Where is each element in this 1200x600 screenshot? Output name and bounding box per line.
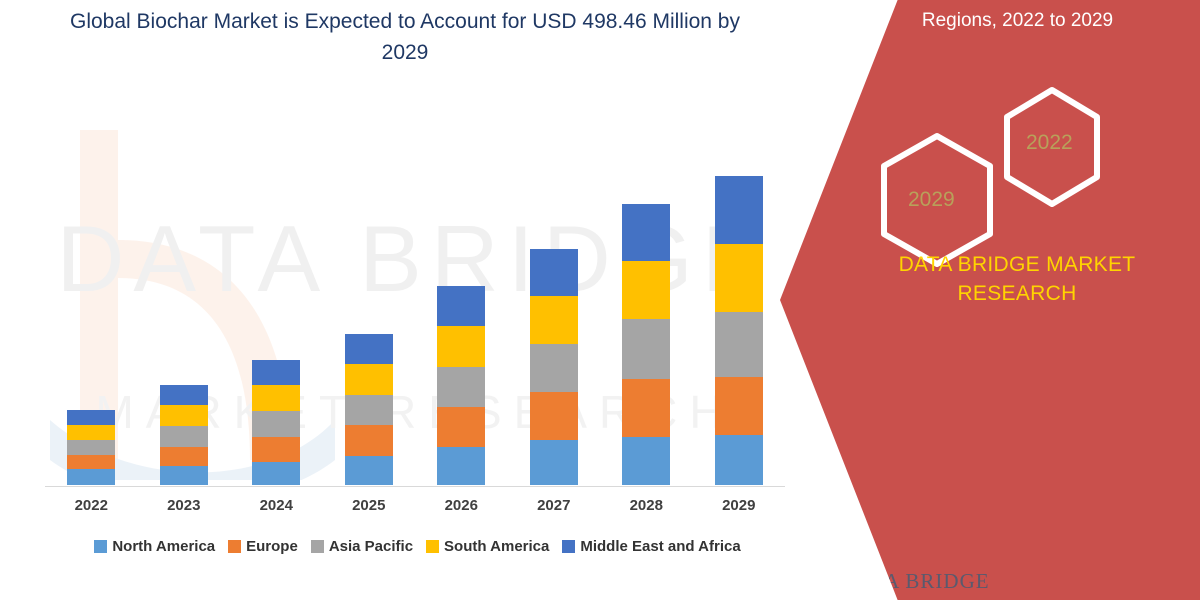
legend-label: Middle East and Africa — [580, 538, 740, 555]
legend-swatch-icon — [94, 540, 107, 553]
hexagon-2029-label: 2029 — [908, 188, 955, 212]
bar-segment[interactable] — [437, 326, 485, 367]
x-axis-labels: 20222023202420252026202720282029 — [45, 497, 785, 523]
bar-segment[interactable] — [530, 249, 578, 296]
bar-segment[interactable] — [622, 379, 670, 437]
bar-segment[interactable] — [530, 440, 578, 485]
bar-segment[interactable] — [715, 176, 763, 244]
bar-segment[interactable] — [715, 244, 763, 312]
bar-segment[interactable] — [67, 440, 115, 455]
x-axis-label-2025: 2025 — [324, 497, 414, 523]
bar-segment[interactable] — [252, 360, 300, 385]
x-axis-label-2026: 2026 — [416, 497, 506, 523]
legend-item[interactable]: Asia Pacific — [311, 538, 413, 555]
panel-heading: Regions, 2022 to 2029 — [850, 8, 1185, 34]
brand-name: DATA BRIDGE MARKET RESEARCH — [842, 250, 1192, 308]
bar-segment[interactable] — [622, 319, 670, 379]
bar-segment[interactable] — [715, 377, 763, 435]
x-axis-label-2023: 2023 — [139, 497, 229, 523]
bar-group-2024[interactable] — [231, 95, 321, 485]
legend-swatch-icon — [426, 540, 439, 553]
bar-segment[interactable] — [622, 437, 670, 485]
legend-label: South America — [444, 538, 549, 555]
legend-item[interactable]: Middle East and Africa — [562, 538, 740, 555]
bar-segment[interactable] — [252, 411, 300, 437]
legend-label: North America — [112, 538, 215, 555]
bar-series-container — [45, 95, 785, 485]
bar-segment[interactable] — [530, 296, 578, 344]
x-axis-label-2027: 2027 — [509, 497, 599, 523]
stacked-bar[interactable] — [345, 334, 393, 485]
bar-segment[interactable] — [160, 405, 208, 426]
bar-segment[interactable] — [252, 385, 300, 411]
bar-segment[interactable] — [530, 344, 578, 392]
right-red-panel: Regions, 2022 to 2029 2022 2029 DATA BRI… — [780, 0, 1200, 600]
hexagon-2022-label: 2022 — [1026, 131, 1073, 155]
bar-segment[interactable] — [530, 392, 578, 440]
bar-segment[interactable] — [715, 312, 763, 377]
x-axis-label-2022: 2022 — [46, 497, 136, 523]
bar-segment[interactable] — [437, 447, 485, 485]
legend-item[interactable]: Europe — [228, 538, 298, 555]
bar-segment[interactable] — [67, 469, 115, 485]
bar-group-2028[interactable] — [601, 95, 691, 485]
bar-segment[interactable] — [67, 455, 115, 469]
bar-segment[interactable] — [437, 367, 485, 407]
legend-item[interactable]: South America — [426, 538, 549, 555]
bar-group-2022[interactable] — [46, 95, 136, 485]
stacked-bar[interactable] — [715, 176, 763, 485]
bar-group-2029[interactable] — [694, 95, 784, 485]
bar-segment[interactable] — [160, 385, 208, 405]
legend-label: Asia Pacific — [329, 538, 413, 555]
bar-segment[interactable] — [622, 204, 670, 261]
bar-group-2026[interactable] — [416, 95, 506, 485]
bar-segment[interactable] — [345, 334, 393, 364]
bar-segment[interactable] — [437, 286, 485, 326]
bar-segment[interactable] — [160, 447, 208, 466]
x-axis-label-2024: 2024 — [231, 497, 321, 523]
bar-segment[interactable] — [252, 462, 300, 485]
chart-title: Global Biochar Market is Expected to Acc… — [55, 6, 755, 68]
bar-segment[interactable] — [715, 435, 763, 485]
legend-label: Europe — [246, 538, 298, 555]
legend-swatch-icon — [228, 540, 241, 553]
legend-swatch-icon — [562, 540, 575, 553]
bar-segment[interactable] — [345, 456, 393, 485]
bar-segment[interactable] — [345, 395, 393, 425]
bar-segment[interactable] — [160, 426, 208, 447]
corner-logo-name: DATA BRIDGE — [842, 569, 990, 594]
infographic-canvas: DATA BRIDGE MARKET RESEARCH Global Bioch… — [0, 0, 1200, 600]
stacked-bar[interactable] — [67, 410, 115, 485]
bar-segment[interactable] — [345, 364, 393, 395]
bar-segment[interactable] — [345, 425, 393, 456]
stacked-bar[interactable] — [160, 385, 208, 485]
bar-group-2023[interactable] — [139, 95, 229, 485]
bar-segment[interactable] — [67, 425, 115, 440]
bar-group-2027[interactable] — [509, 95, 599, 485]
x-axis-label-2028: 2028 — [601, 497, 691, 523]
chart-legend: North AmericaEuropeAsia PacificSouth Ame… — [45, 538, 790, 555]
legend-item[interactable]: North America — [94, 538, 215, 555]
x-axis-line — [45, 486, 785, 487]
bar-segment[interactable] — [252, 437, 300, 462]
plot-area — [45, 95, 785, 487]
x-axis-label-2029: 2029 — [694, 497, 784, 523]
stacked-bar[interactable] — [437, 286, 485, 485]
stacked-bar[interactable] — [252, 360, 300, 485]
bar-segment[interactable] — [622, 261, 670, 319]
stacked-bar[interactable] — [622, 204, 670, 485]
bar-segment[interactable] — [437, 407, 485, 447]
bar-segment[interactable] — [160, 466, 208, 485]
stacked-bar[interactable] — [530, 249, 578, 485]
hexagon-group: 2022 2029 — [850, 85, 1185, 245]
bar-group-2025[interactable] — [324, 95, 414, 485]
bar-segment[interactable] — [67, 410, 115, 425]
legend-swatch-icon — [311, 540, 324, 553]
